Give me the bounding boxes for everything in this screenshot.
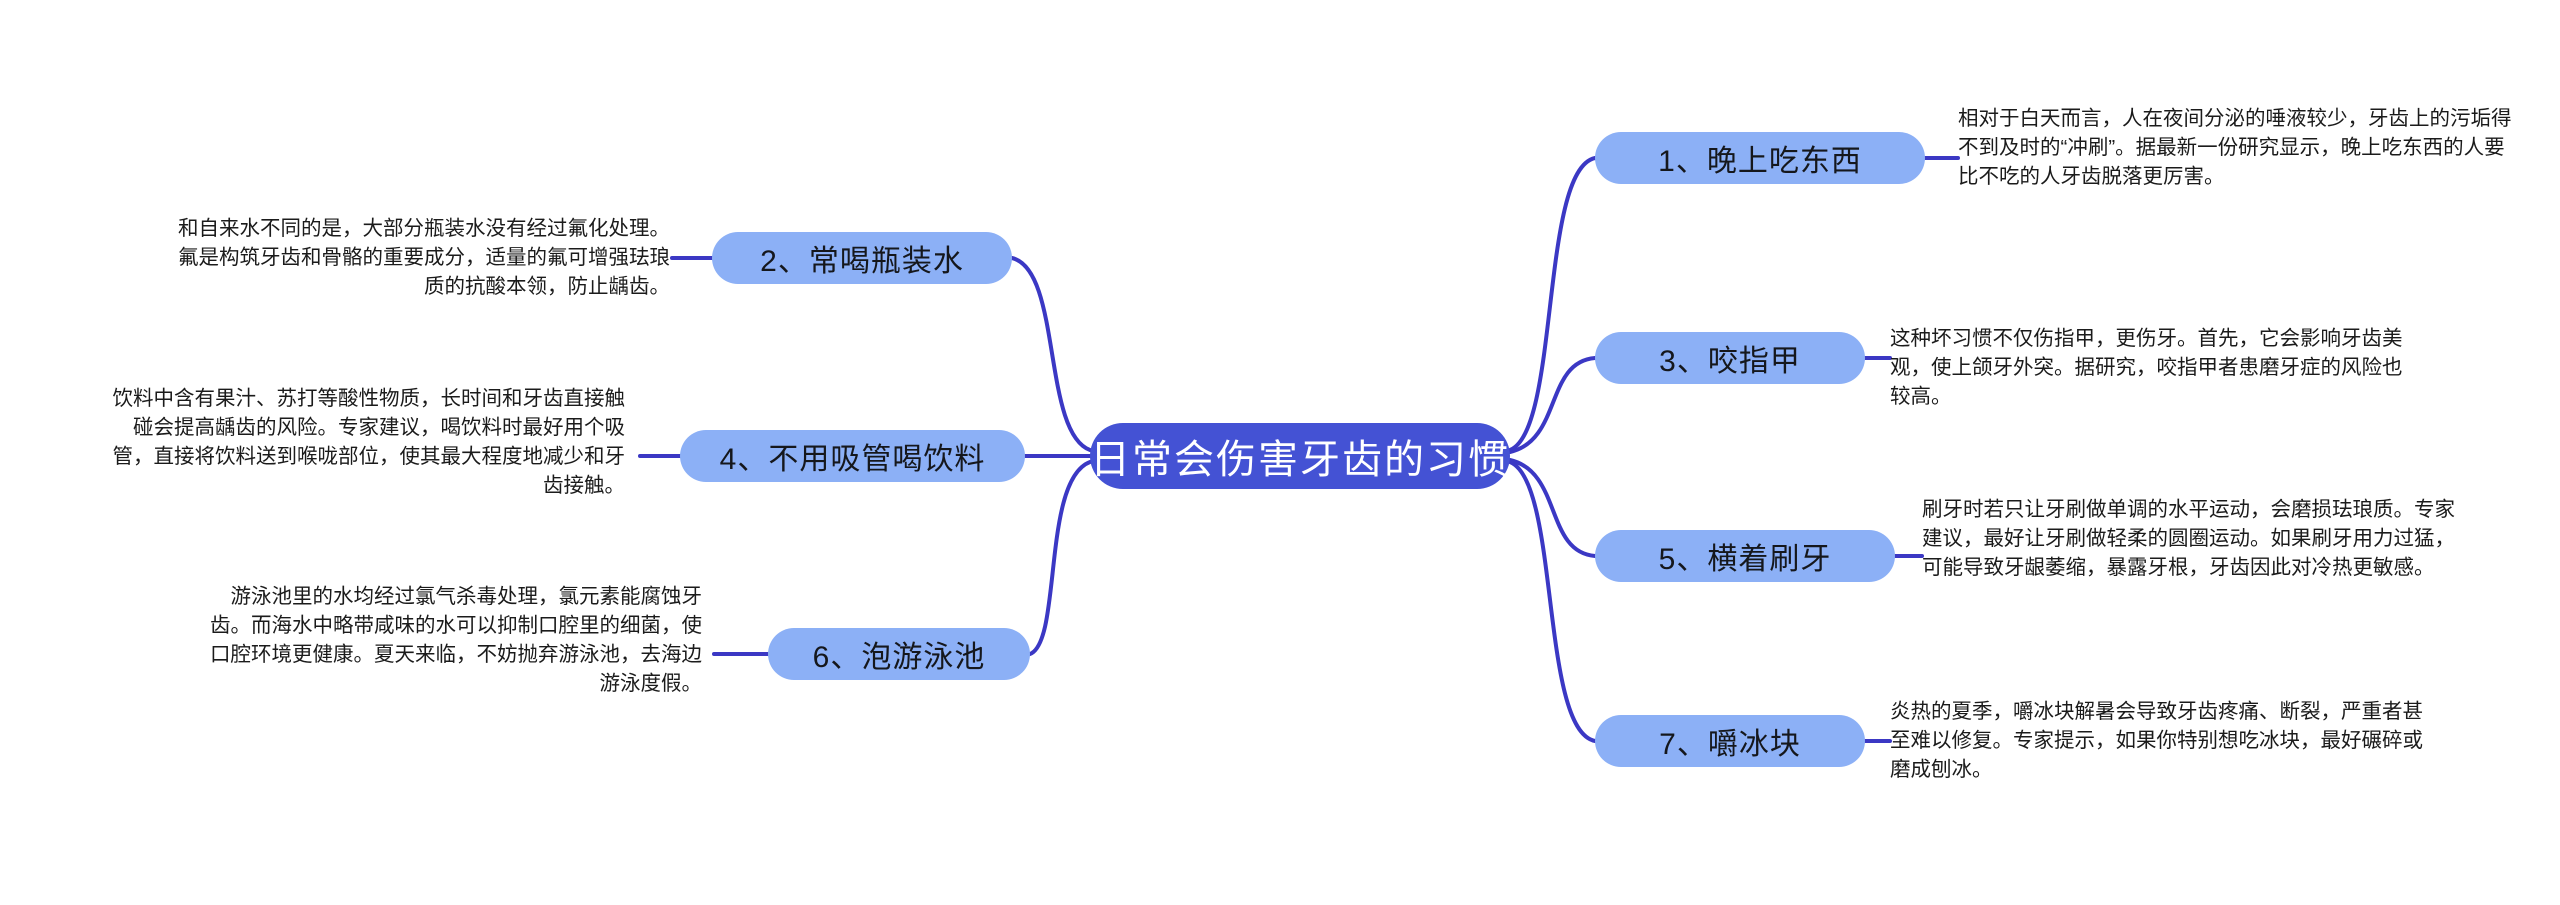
branch-node-2-label: 2、常喝瓶装水 bbox=[760, 236, 964, 280]
branch-node-1-label: 1、晚上吃东西 bbox=[1658, 136, 1862, 180]
branch-node-6[interactable]: 6、泡游泳池 bbox=[768, 628, 1030, 680]
branch-node-7[interactable]: 7、嚼冰块 bbox=[1595, 715, 1865, 767]
connector-center-to-node-3 bbox=[1510, 358, 1595, 452]
branch-description-2: 和自来水不同的是，大部分瓶装水没有经过氟化处理。氟是构筑牙齿和骨骼的重要成分，适… bbox=[160, 214, 670, 301]
branch-description-1: 相对于白天而言，人在夜间分泌的唾液较少，牙齿上的污垢得不到及时的“冲刷”。据最新… bbox=[1958, 104, 2518, 191]
branch-node-5-label: 5、横着刷牙 bbox=[1659, 534, 1832, 578]
connector-center-to-node-2 bbox=[1012, 258, 1090, 450]
branch-node-3[interactable]: 3、咬指甲 bbox=[1595, 332, 1865, 384]
connector-center-to-node-7 bbox=[1510, 462, 1595, 741]
branch-description-5: 刷牙时若只让牙刷做单调的水平运动，会磨损珐琅质。专家建议，最好让牙刷做轻柔的圆圈… bbox=[1922, 495, 2472, 582]
connector-center-to-node-1 bbox=[1510, 158, 1595, 450]
branch-node-6-label: 6、泡游泳池 bbox=[813, 632, 986, 676]
branch-description-7: 炎热的夏季，嚼冰块解暑会导致牙齿疼痛、断裂，严重者甚至难以修复。专家提示，如果你… bbox=[1890, 697, 2430, 784]
connector-center-to-node-6 bbox=[1030, 462, 1090, 654]
branch-node-3-label: 3、咬指甲 bbox=[1659, 336, 1801, 380]
branch-node-1[interactable]: 1、晚上吃东西 bbox=[1595, 132, 1925, 184]
branch-description-3: 这种坏习惯不仅伤指甲，更伤牙。首先，它会影响牙齿美观，使上颌牙外突。据研究，咬指… bbox=[1890, 324, 2410, 411]
branch-node-4[interactable]: 4、不用吸管喝饮料 bbox=[680, 430, 1025, 482]
branch-description-6: 游泳池里的水均经过氯气杀毒处理，氯元素能腐蚀牙齿。而海水中略带咸味的水可以抑制口… bbox=[190, 582, 702, 698]
branch-node-2[interactable]: 2、常喝瓶装水 bbox=[712, 232, 1012, 284]
center-node[interactable]: 日常会伤害牙齿的习惯 bbox=[1090, 423, 1510, 489]
center-node-label: 日常会伤害牙齿的习惯 bbox=[1090, 427, 1510, 485]
branch-description-4: 饮料中含有果汁、苏打等酸性物质，长时间和牙齿直接触碰会提高龋齿的风险。专家建议，… bbox=[105, 384, 625, 500]
mindmap-canvas: 日常会伤害牙齿的习惯 1、晚上吃东西 相对于白天而言，人在夜间分泌的唾液较少，牙… bbox=[0, 0, 2560, 905]
branch-node-7-label: 7、嚼冰块 bbox=[1659, 719, 1801, 763]
branch-node-4-label: 4、不用吸管喝饮料 bbox=[720, 434, 986, 478]
branch-node-5[interactable]: 5、横着刷牙 bbox=[1595, 530, 1895, 582]
connector-center-to-node-5 bbox=[1510, 460, 1595, 556]
